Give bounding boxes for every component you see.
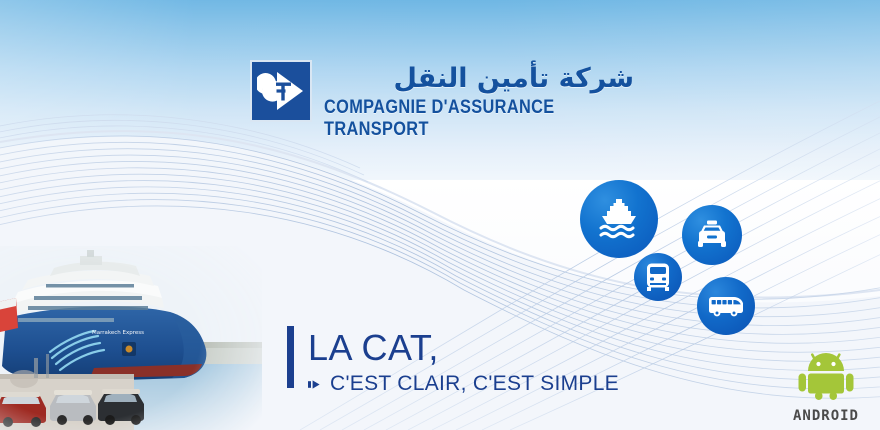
tagline-subline: C'EST CLAIR, C'EST SIMPLE	[330, 371, 619, 397]
bus-side-icon	[708, 294, 744, 318]
android-wordmark: ANDROID	[778, 408, 874, 424]
android-badge[interactable]: ANDROID	[778, 352, 874, 424]
svg-text:Marrakech Express: Marrakech Express	[92, 330, 144, 336]
tagline-block: LA CAT, C'EST CLAIR, C'EST SIMPLE	[287, 326, 619, 397]
ferry-photo: Marrakech Express	[0, 246, 262, 430]
android-robot-icon	[795, 352, 857, 400]
brand-name-french: COMPAGNIE D'ASSURANCE TRANSPORT	[324, 97, 634, 141]
brand-wordmark: شركة تأمين النقل COMPAGNIE D'ASSURANCE T…	[324, 60, 684, 141]
brand-logo-block: شركة تأمين النقل COMPAGNIE D'ASSURANCE T…	[250, 60, 684, 141]
transport-circle-ship[interactable]	[580, 180, 658, 258]
ship-icon	[597, 198, 641, 240]
g-arrow-t-monogram-icon	[257, 69, 305, 113]
bus-front-icon	[645, 263, 671, 291]
tagline-accent-bar	[287, 326, 294, 388]
arrow-bullet-icon	[308, 378, 321, 391]
transport-circle-bus-side[interactable]	[697, 277, 755, 335]
transport-circle-taxi[interactable]	[682, 205, 742, 265]
tagline-text: LA CAT, C'EST CLAIR, C'EST SIMPLE	[308, 326, 619, 397]
brand-name-arabic: شركة تأمين النقل	[324, 61, 634, 97]
cat-logo-mark	[250, 60, 312, 122]
transport-circle-bus-front[interactable]	[634, 253, 682, 301]
cat-promo-banner: Marrakech Express	[0, 0, 880, 430]
tagline-subline-row: C'EST CLAIR, C'EST SIMPLE	[308, 371, 619, 397]
tagline-headline: LA CAT,	[308, 327, 619, 369]
taxi-icon	[695, 220, 729, 250]
